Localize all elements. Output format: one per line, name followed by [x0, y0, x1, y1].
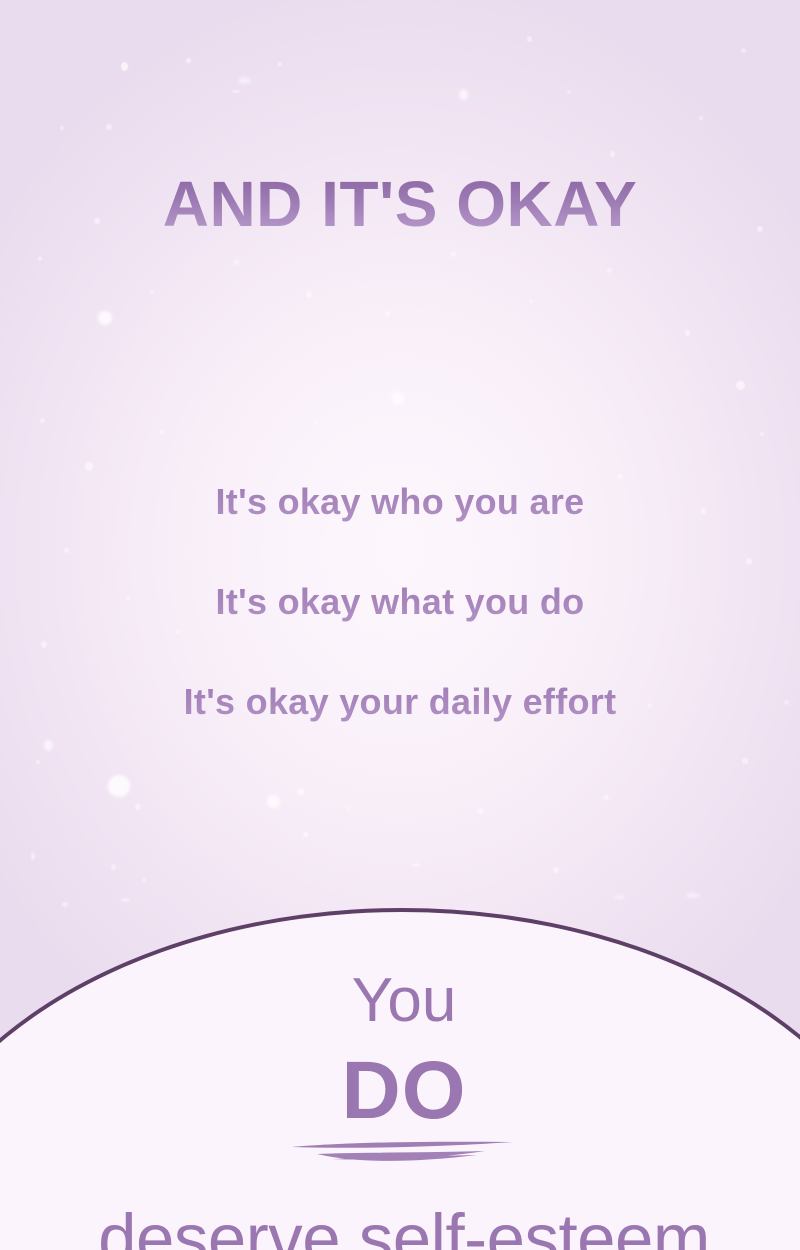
- speckle-dot: [186, 58, 191, 63]
- speckle-dot: [610, 151, 615, 157]
- speckle-dot: [60, 126, 64, 130]
- speckle-dot: [736, 381, 745, 390]
- speckle-dot: [150, 290, 154, 294]
- callout-emphasis-wrap: DO: [4, 1050, 800, 1200]
- speckle-dot: [40, 418, 45, 423]
- callout-content: You DO deserve self-esteem: [4, 912, 800, 1250]
- speckle-dot: [553, 867, 559, 873]
- speckle-dot: [306, 291, 312, 298]
- speckle-dot: [567, 90, 571, 94]
- speckle-dot: [135, 804, 140, 810]
- speckle-dot: [412, 863, 421, 867]
- speckle-dot: [459, 89, 468, 100]
- page-title: AND IT'S OKAY: [0, 172, 800, 236]
- poster-canvas: AND IT'S OKAY It's okay who you are It's…: [0, 0, 800, 1250]
- speckle-dot: [478, 808, 483, 814]
- affirmation-line-1: It's okay who you are: [0, 452, 800, 552]
- callout-line-you: You: [4, 970, 800, 1032]
- speckle-dot: [297, 788, 304, 796]
- speckle-dot: [234, 260, 239, 265]
- speckle-dot: [741, 48, 746, 53]
- affirmation-line-3: It's okay your daily effort: [0, 652, 800, 752]
- speckle-dot: [267, 795, 280, 808]
- callout-emphasis-do: DO: [4, 1050, 800, 1132]
- hand-drawn-underline-icon: [289, 1134, 519, 1174]
- affirmation-list: It's okay who you are It's okay what you…: [0, 452, 800, 752]
- speckle-dot: [160, 430, 164, 434]
- speckle-dot: [62, 902, 68, 907]
- speckle-dot: [278, 62, 282, 66]
- speckle-dot: [108, 775, 130, 797]
- speckle-dot: [36, 760, 40, 764]
- speckle-dot: [385, 311, 390, 317]
- speckle-dot: [31, 852, 35, 860]
- speckle-dot: [392, 392, 404, 404]
- speckle-dot: [604, 795, 609, 800]
- speckle-dot: [760, 432, 764, 436]
- speckle-dot: [142, 878, 146, 883]
- speckle-dot: [527, 36, 532, 42]
- speckle-dot: [686, 893, 700, 898]
- speckle-dot: [614, 895, 625, 899]
- speckle-dot: [238, 77, 251, 84]
- speckle-dot: [607, 268, 612, 273]
- speckle-dot: [98, 311, 112, 325]
- speckle-dot: [121, 62, 128, 71]
- speckle-dot: [451, 252, 456, 257]
- speckle-dot: [742, 758, 748, 764]
- speckle-dot: [38, 256, 42, 261]
- speckle-dot: [685, 330, 690, 336]
- callout-line-deserve: deserve self-esteem: [4, 1204, 800, 1250]
- speckle-dot: [529, 299, 533, 303]
- speckle-dot: [111, 864, 116, 870]
- speckle-dot: [314, 420, 318, 424]
- speckle-dot: [699, 116, 703, 120]
- speckle-dot: [232, 90, 240, 93]
- speckle-dot: [106, 124, 112, 130]
- speckle-dot: [121, 898, 130, 902]
- callout-ellipse-panel: You DO deserve self-esteem: [0, 908, 800, 1250]
- speckle-dot: [303, 832, 308, 837]
- speckle-dot: [347, 806, 351, 811]
- affirmation-line-2: It's okay what you do: [0, 552, 800, 652]
